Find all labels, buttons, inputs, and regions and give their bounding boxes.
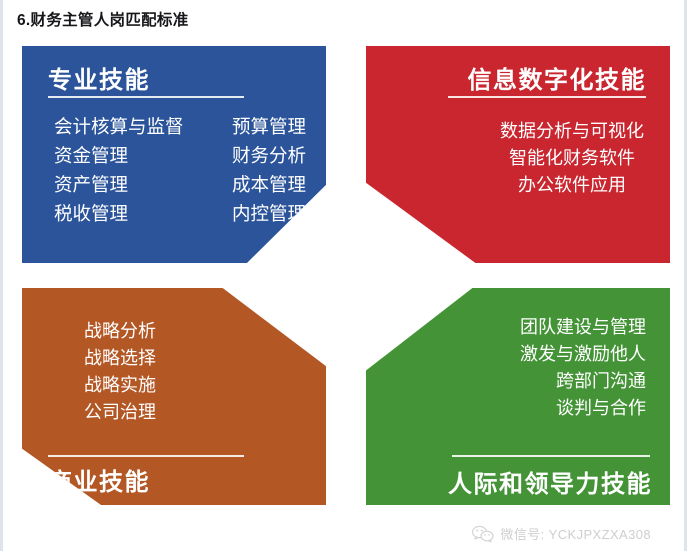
page-title: 6.财务主管人岗匹配标准 [17, 8, 189, 30]
quadrant-leadership-skills[interactable]: 团队建设与管理 激发与激励他人 跨部门沟通 谈判与合作 人际和领导力技能 [366, 288, 670, 505]
quadrant-business-skills[interactable]: 战略分析 战略选择 战略实施 公司治理 商业技能 [22, 288, 326, 505]
list-item: 资金管理 [54, 141, 226, 170]
list-item: 战略选择 [84, 345, 156, 372]
skill-item-list-business: 战略分析 战略选择 战略实施 公司治理 [84, 318, 156, 426]
list-item: 会计核算与监督 [54, 112, 226, 141]
vertical-gutter [348, 46, 366, 505]
skills-matrix: 专业技能 会计核算与监督 预算管理 资金管理 财务分析 资产管理 成本管理 税收… [22, 46, 670, 505]
list-item: 跨部门沟通 [520, 368, 646, 395]
center-circle-decoration [304, 226, 404, 326]
list-item: 数据分析与可视化 [500, 118, 644, 145]
heading-divider [448, 96, 646, 98]
watermark-text: 微信号: YCKJPXZXA308 [500, 524, 651, 543]
list-item: 成本管理 [232, 170, 306, 199]
list-item: 内控管理 [232, 199, 306, 228]
left-edge-rule [0, 0, 3, 551]
quadrant-heading-professional-skills: 专业技能 [48, 60, 150, 95]
quadrant-professional-skills[interactable]: 专业技能 会计核算与监督 预算管理 资金管理 财务分析 资产管理 成本管理 税收… [22, 46, 326, 263]
skill-item-list-digital: 数据分析与可视化 智能化财务软件 办公软件应用 [500, 118, 644, 199]
list-item: 预算管理 [232, 112, 306, 141]
heading-divider [452, 455, 650, 457]
watermark: 微信号: YCKJPXZXA308 [472, 524, 651, 543]
heading-divider [48, 96, 244, 98]
list-item: 资产管理 [54, 170, 226, 199]
list-item: 办公软件应用 [500, 172, 644, 199]
list-item: 激发与激励他人 [520, 341, 646, 368]
horizontal-gutter [22, 269, 670, 288]
list-item: 智能化财务软件 [500, 145, 644, 172]
list-item: 谈判与合作 [520, 395, 646, 422]
list-item: 战略分析 [84, 318, 156, 345]
list-item: 财务分析 [232, 141, 306, 170]
list-item: 团队建设与管理 [520, 314, 646, 341]
heading-divider [48, 455, 244, 457]
wechat-icon [472, 525, 494, 543]
quadrant-heading-leadership-skills: 人际和领导力技能 [448, 464, 652, 499]
list-item: 税收管理 [54, 199, 226, 228]
skill-item-list-leadership: 团队建设与管理 激发与激励他人 跨部门沟通 谈判与合作 [520, 314, 646, 422]
quadrant-heading-digital-skills: 信息数字化技能 [468, 60, 647, 95]
skill-item-list-professional: 会计核算与监督 预算管理 资金管理 财务分析 资产管理 成本管理 税收管理 内控… [54, 112, 306, 228]
list-item: 战略实施 [84, 372, 156, 399]
quadrant-heading-business-skills: 商业技能 [48, 462, 150, 497]
list-item: 公司治理 [84, 399, 156, 426]
quadrant-digital-skills[interactable]: 信息数字化技能 数据分析与可视化 智能化财务软件 办公软件应用 [366, 46, 670, 263]
